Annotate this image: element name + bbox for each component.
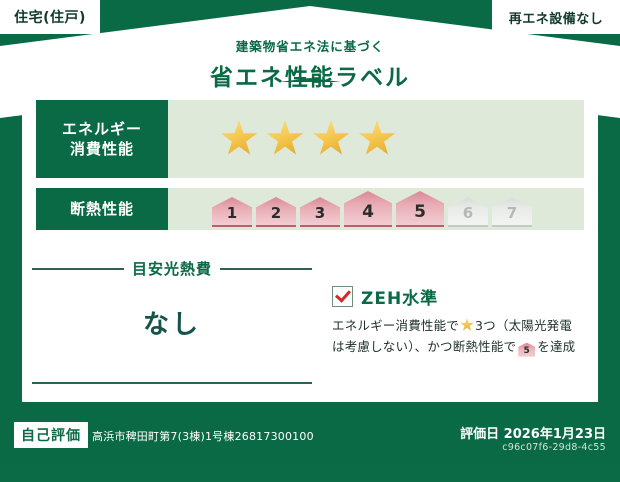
insulation-performance-label: 断熱性能: [36, 188, 168, 230]
zeh-title-text: ZEH水準: [361, 284, 438, 309]
zeh-desc-part3: を達成: [537, 339, 575, 354]
evaluation-date: 評価日 2026年1月23日: [460, 423, 606, 442]
insulation-grade-scale: 1234567: [168, 188, 584, 230]
cost-bottom-rule: [32, 382, 312, 384]
zeh-desc-star-count: 3つ（太陽光発電: [475, 318, 572, 333]
energy-label-line1: エネルギー: [62, 119, 142, 139]
zeh-desc-part2: は考慮しない）、かつ断熱性能で: [332, 339, 516, 354]
zeh-desc-part1: エネルギー消費性能で: [332, 318, 459, 333]
zeh-description: エネルギー消費性能で3つ（太陽光発電 は考慮しない）、かつ断熱性能で5を達成: [332, 316, 582, 357]
star-icon: [312, 120, 350, 158]
cost-rule-left: [32, 268, 124, 270]
star-icon: [266, 120, 304, 158]
property-address: 高浜市稗田町第7(3棟)1号棟26817300100: [92, 428, 314, 444]
star-icon: [220, 120, 258, 158]
energy-label-line2: 消費性能: [70, 139, 134, 159]
inline-star-icon: [460, 318, 474, 332]
insulation-badge-3: 3: [300, 197, 340, 227]
document-code: c96c07f6-29d8-4c55: [502, 442, 606, 453]
zeh-heading: ZEH水準: [332, 284, 582, 309]
insulation-badge-2: 2: [256, 197, 296, 227]
insulation-label-text: 断熱性能: [70, 199, 134, 219]
cost-rule-right: [220, 268, 312, 270]
energy-performance-row: エネルギー 消費性能: [36, 100, 584, 178]
insulation-badge-6: 6: [448, 197, 488, 227]
self-evaluation-badge: 自己評価: [14, 422, 88, 448]
zeh-check-icon: [332, 286, 353, 307]
title-subtitle: 建築物省エネ法に基づく: [0, 36, 620, 55]
inline-grade-badge: 5: [518, 343, 535, 357]
star-icon: [358, 120, 396, 158]
energy-star-rating: [168, 100, 584, 178]
energy-label-board: エネルギー 消費性能 断熱性能 1234567 目安光熱費: [0, 0, 620, 463]
tag-renewable-equipment: 再エネ設備なし: [492, 0, 620, 34]
label-title-block: 建築物省エネ法に基づく 省エネ性能ラベル: [0, 36, 620, 92]
cost-heading-text: 目安光熱費: [132, 258, 212, 279]
tag-housing-type: 住宅(住戸): [0, 0, 100, 34]
energy-performance-label: エネルギー 消費性能: [36, 100, 168, 178]
label-card: エネルギー 消費性能 断熱性能 1234567 目安光熱費: [22, 82, 598, 402]
title-main: 省エネ性能ラベル: [0, 58, 620, 92]
insulation-badge-5: 5: [396, 191, 444, 227]
utility-cost-heading: 目安光熱費: [32, 258, 312, 279]
utility-cost-value: なし: [22, 304, 322, 341]
insulation-badge-1: 1: [212, 197, 252, 227]
label-footer: 自己評価 高浜市稗田町第7(3棟)1号棟26817300100 評価日 2026…: [0, 406, 620, 463]
insulation-badge-4: 4: [344, 191, 392, 227]
performance-rows: エネルギー 消費性能 断熱性能 1234567: [22, 100, 598, 240]
insulation-badge-7: 7: [492, 197, 532, 227]
insulation-performance-row: 断熱性能 1234567: [36, 188, 584, 230]
insulation-badge-list: 1234567: [212, 191, 532, 227]
